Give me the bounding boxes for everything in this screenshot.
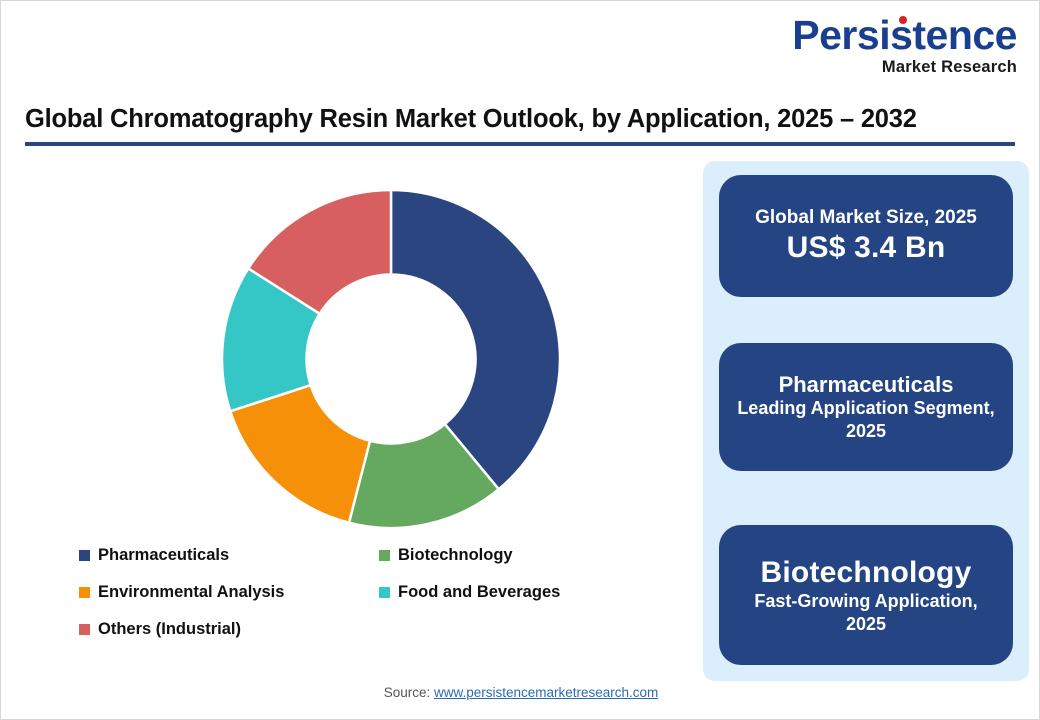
legend-label: Biotechnology xyxy=(398,546,513,565)
legend-swatch-icon xyxy=(79,550,90,561)
logo-secondary-label: Market Research xyxy=(792,59,1017,76)
kpi-card-heading: Global Market Size, 2025 xyxy=(755,207,977,229)
legend-item-pharmaceuticals: Pharmaceuticals xyxy=(79,546,379,565)
legend-label: Others (Industrial) xyxy=(98,620,241,639)
legend-item-environmental-analysis: Environmental Analysis xyxy=(79,583,379,602)
kpi-card-heading: Biotechnology xyxy=(761,555,972,590)
legend-swatch-icon xyxy=(79,624,90,635)
kpi-card-heading: Pharmaceuticals xyxy=(779,372,954,398)
kpi-card-value: US$ 3.4 Bn xyxy=(787,230,946,265)
legend-row: Others (Industrial) xyxy=(79,611,679,648)
kpi-card-fast-growing-application: Biotechnology Fast-Growing Application, … xyxy=(719,525,1013,665)
legend-row: Environmental Analysis Food and Beverage… xyxy=(79,574,679,611)
kpi-card-leading-application: Pharmaceuticals Leading Application Segm… xyxy=(719,343,1013,471)
legend-label: Environmental Analysis xyxy=(98,583,284,602)
kpi-card-value: Leading Application Segment, 2025 xyxy=(733,397,999,442)
legend-swatch-icon xyxy=(79,587,90,598)
legend-swatch-icon xyxy=(379,550,390,561)
page-title-text: Global Chromatography Resin Market Outlo… xyxy=(25,105,1015,134)
donut-slice-environmental-analysis xyxy=(230,385,370,523)
kpi-card-global-market-size: Global Market Size, 2025 US$ 3.4 Bn xyxy=(719,175,1013,297)
title-underline-rule xyxy=(25,142,1015,146)
legend-label: Pharmaceuticals xyxy=(98,546,229,565)
chart-legend: Pharmaceuticals Biotechnology Environmen… xyxy=(79,537,679,648)
application-share-donut-chart xyxy=(201,169,581,549)
page-title: Global Chromatography Resin Market Outlo… xyxy=(25,105,1015,146)
chart-area xyxy=(21,159,681,539)
source-line: Source: www.persistencemarketresearch.co… xyxy=(1,685,1040,700)
infographic-page: Persistence Market Research Global Chrom… xyxy=(0,0,1040,720)
legend-row: Pharmaceuticals Biotechnology xyxy=(79,537,679,574)
company-logo: Persistence Market Research xyxy=(792,15,1017,76)
legend-item-food-and-beverages: Food and Beverages xyxy=(379,583,679,602)
legend-item-biotechnology: Biotechnology xyxy=(379,546,679,565)
source-prefix-label: Source: xyxy=(384,685,434,700)
kpi-side-panel: Global Market Size, 2025 US$ 3.4 Bn Phar… xyxy=(703,161,1029,681)
kpi-card-value: Fast-Growing Application, 2025 xyxy=(733,590,999,635)
legend-label: Food and Beverages xyxy=(398,583,560,602)
legend-item-others-industrial: Others (Industrial) xyxy=(79,620,379,639)
legend-swatch-icon xyxy=(379,587,390,598)
source-url-link[interactable]: www.persistencemarketresearch.com xyxy=(434,685,658,700)
logo-primary-text: Persistence xyxy=(792,15,1017,56)
